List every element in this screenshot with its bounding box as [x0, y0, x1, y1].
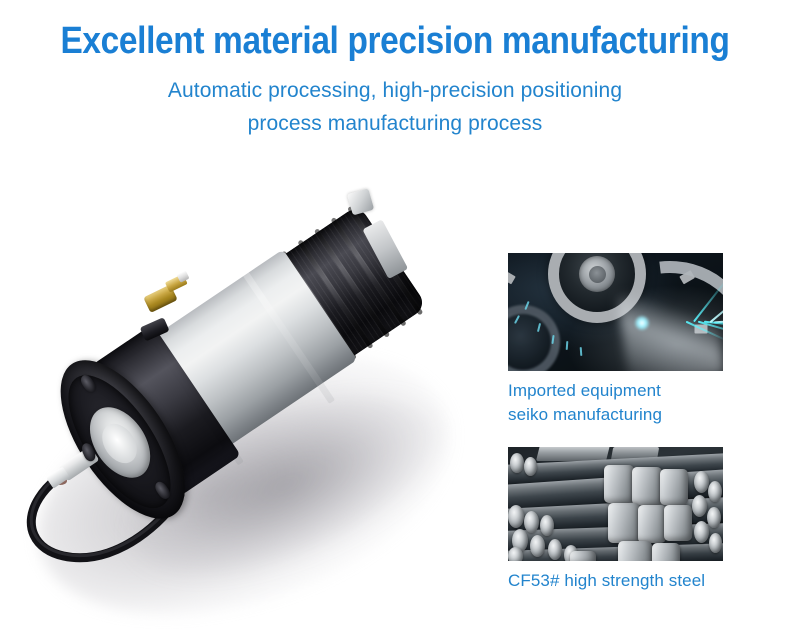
card-spacer	[508, 427, 768, 447]
product-photo	[0, 165, 500, 631]
feature-card-equipment: Imported equipment seiko manufacturing	[508, 253, 768, 427]
feature-cards: Imported equipment seiko manufacturing	[508, 253, 768, 593]
center-hub-inner	[95, 417, 144, 469]
steel-caption: CF53# high strength steel	[508, 561, 768, 593]
equipment-caption: Imported equipment seiko manufacturing	[508, 371, 768, 427]
banner-page: Excellent material precision manufacturi…	[0, 0, 790, 631]
feature-card-steel: CF53# high strength steel	[508, 447, 768, 593]
steel-caption-line-1: CF53# high strength steel	[508, 569, 768, 593]
equipment-caption-line-1: Imported equipment	[508, 379, 768, 403]
steel-image	[508, 447, 723, 561]
light-streak	[617, 283, 723, 371]
equipment-image	[508, 253, 723, 371]
banner-header: Excellent material precision manufacturi…	[0, 0, 790, 140]
subtitle-line-2: process manufacturing process	[0, 107, 790, 140]
spark-origin	[634, 315, 650, 331]
page-title: Excellent material precision manufacturi…	[47, 0, 742, 62]
equipment-caption-line-2: seiko manufacturing	[508, 403, 768, 427]
page-subtitle: Automatic processing, high-precision pos…	[0, 62, 790, 140]
subtitle-line-1: Automatic processing, high-precision pos…	[0, 74, 790, 107]
